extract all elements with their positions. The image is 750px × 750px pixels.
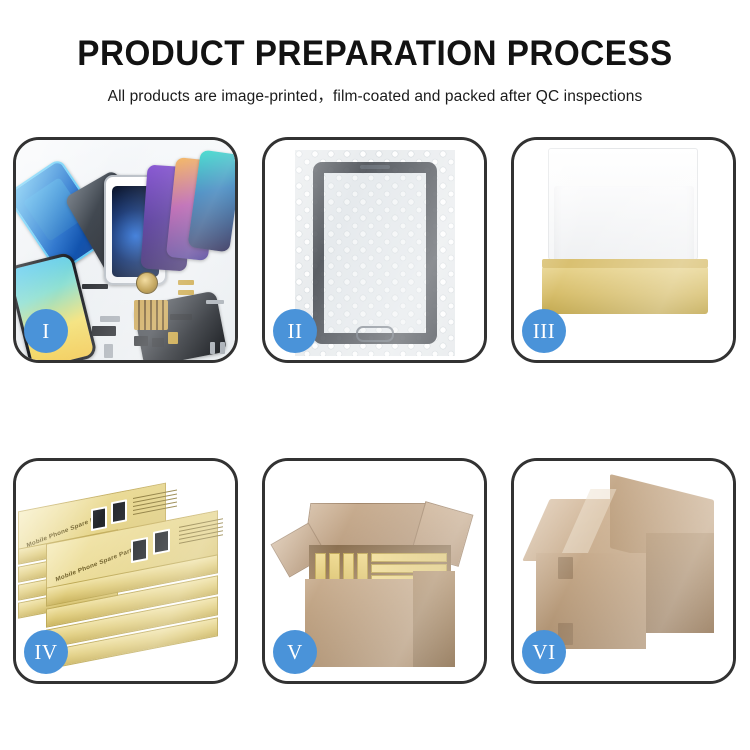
process-step-5: V	[262, 458, 487, 684]
poster-header: PRODUCT PREPARATION PROCESS All products…	[0, 0, 750, 106]
process-step-4: Mobile Phone Spare Parts Mobile Phone Sp…	[13, 458, 238, 684]
part-bracket	[100, 316, 120, 322]
page-title: PRODUCT PREPARATION PROCESS	[19, 34, 732, 74]
carton-tab-upper	[558, 557, 573, 579]
step-badge-5: V	[273, 630, 317, 674]
carton-flap-back	[304, 503, 427, 551]
part-flex-gold	[178, 280, 194, 285]
process-step-3: III	[511, 137, 736, 363]
part-screw-strip	[206, 300, 224, 304]
box-screen-print-a	[91, 506, 107, 531]
step-badge-1: I	[24, 309, 68, 353]
process-step-1: I	[13, 137, 238, 363]
box-screen-print-c	[131, 537, 148, 563]
part-flex-cable	[92, 326, 116, 336]
wrapped-phone-screen	[313, 162, 437, 344]
part-connector	[168, 332, 178, 344]
carton-front-face	[305, 579, 413, 667]
box-text-lines-front	[179, 518, 223, 549]
step-badge-2: II	[273, 309, 317, 353]
page-subtitle: All products are image-printed，film-coat…	[0, 84, 750, 106]
part-antenna	[170, 314, 192, 320]
part-button	[104, 344, 113, 358]
step-badge-4: IV	[24, 630, 68, 674]
sealed-carton-side	[646, 533, 714, 633]
part-screw	[210, 342, 215, 354]
part-screw-2	[220, 342, 225, 354]
packed-box-5	[371, 553, 447, 562]
box-screen-print-b	[111, 499, 127, 524]
bubble-wrap-sheet	[295, 150, 455, 356]
spare-parts-cluster	[82, 270, 232, 360]
part-strip	[82, 284, 108, 289]
process-step-6: VI	[511, 458, 736, 684]
process-step-2: II	[262, 137, 487, 363]
step-badge-6: VI	[522, 630, 566, 674]
part-camera	[134, 336, 148, 346]
chip-grid-part	[134, 300, 168, 330]
coil-part	[136, 272, 158, 294]
box-screen-print-d	[153, 529, 170, 555]
carton-side-face	[413, 571, 455, 667]
part-speaker	[152, 338, 164, 347]
process-step-grid: I II III	[13, 137, 737, 684]
kraft-box-tray	[542, 266, 708, 314]
step-badge-3: III	[522, 309, 566, 353]
box-text-lines-rear	[133, 489, 177, 520]
part-flex-gold-2	[178, 290, 194, 295]
product-preparation-poster: PRODUCT PREPARATION PROCESS All products…	[0, 0, 750, 750]
